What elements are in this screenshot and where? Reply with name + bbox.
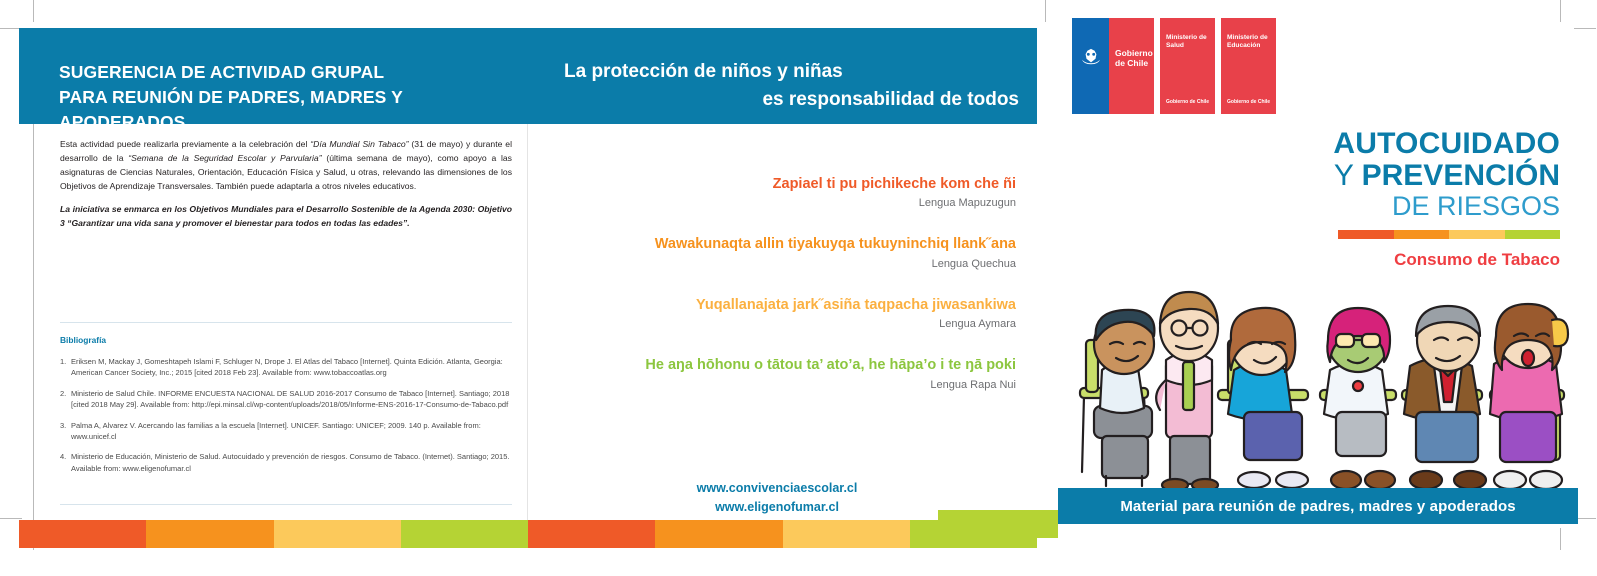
cover-strip-segment xyxy=(1338,230,1394,239)
protection-header-line1: La protección de niños y niñas xyxy=(564,58,1019,86)
chile-coat-of-arms-icon xyxy=(1080,48,1102,66)
illustration-student-1 xyxy=(1080,310,1154,486)
website-url[interactable]: www.convivenciaescolar.cl xyxy=(538,479,1016,498)
bibliography-item: 2.Ministerio de Salud Chile. INFORME ENC… xyxy=(60,388,515,411)
bibliography-item: 4.Ministerio de Educación, Ministerio de… xyxy=(60,451,515,474)
language-entry: He aŋa hōhonu o tātou ta’ ato’a, he hāpa… xyxy=(538,357,1016,390)
activity-emphasis: La iniciativa se enmarca en los Objetivo… xyxy=(60,203,512,231)
bibliography-item-text: Palma A, Alvarez V. Acercando las famili… xyxy=(71,421,481,441)
color-strip-segment xyxy=(146,520,273,548)
bibliography-item-text: Eriksen M, Mackay J, Gomeshtapeh Islami … xyxy=(71,357,503,377)
logo-salud-footer: Gobierno de Chile xyxy=(1166,99,1209,105)
bibliography-item: 3.Palma A, Alvarez V. Acercando las fami… xyxy=(60,420,515,443)
color-strip-segment xyxy=(274,520,401,548)
bottom-color-strip xyxy=(19,520,1037,548)
logo-ministerio-de-educacion: Ministerio de Educación Gobierno de Chil… xyxy=(1221,18,1276,114)
crop-mark-top-left-v xyxy=(33,0,34,22)
protection-header: La protección de niños y niñas es respon… xyxy=(564,58,1019,113)
language-name: Lengua Mapuzugun xyxy=(538,197,1016,209)
logo-ministerio-de-salud: Ministerio de Salud Gobierno de Chile xyxy=(1160,18,1215,114)
cover-title: AUTOCUIDADO Y PREVENCIÓN DE RIESGOS xyxy=(1160,128,1560,221)
language-name: Lengua Aymara xyxy=(538,318,1016,330)
color-strip-segment xyxy=(528,520,655,548)
brochure-page: SUGERENCIA DE ACTIVIDAD GRUPAL PARA REUN… xyxy=(0,0,1597,576)
logo-educacion-footer: Gobierno de Chile xyxy=(1227,99,1270,105)
logo-gobierno-text: Gobierno de Chile xyxy=(1115,48,1153,69)
activity-panel: Esta actividad puede realizarla previame… xyxy=(19,124,527,520)
crop-mark-center-v xyxy=(1045,0,1046,22)
language-phrase: Yuqallanajata jark˝asiña taqpacha jiwasa… xyxy=(538,297,1016,314)
cover-title-y: Y xyxy=(1334,159,1353,192)
activity-header-line1: SUGERENCIA DE ACTIVIDAD GRUPAL xyxy=(59,60,529,85)
illustration-student-4 xyxy=(1402,306,1486,489)
cover-title-prevencion: PREVENCIÓN xyxy=(1362,159,1560,192)
languages-panel: Zapiael ti pu pichikeche kom che ñiLengu… xyxy=(528,124,1037,520)
activity-paragraph: Esta actividad puede realizarla previame… xyxy=(60,138,512,194)
bibliography-item-number: 2. xyxy=(60,388,66,399)
cover-title-line1: AUTOCUIDADO xyxy=(1160,128,1560,160)
left-spread: SUGERENCIA DE ACTIVIDAD GRUPAL PARA REUN… xyxy=(19,28,1037,520)
color-strip-segment xyxy=(783,520,910,548)
green-accent-tab xyxy=(938,510,1058,538)
bibliography-item-number: 3. xyxy=(60,420,66,431)
protection-header-line2: es responsabilidad de todos xyxy=(564,86,1019,114)
illustration-teacher xyxy=(1156,292,1218,490)
bibliography-item-text: Ministerio de Educación, Ministerio de S… xyxy=(71,452,509,472)
biblio-rule-top xyxy=(60,322,512,323)
bibliography-item-number: 1. xyxy=(60,356,66,367)
activity-body: Esta actividad puede realizarla previame… xyxy=(60,138,512,231)
language-entry: Zapiael ti pu pichikeche kom che ñiLengu… xyxy=(538,176,1016,209)
logo-gobierno-de-chile: Gobierno de Chile xyxy=(1072,18,1154,114)
language-name: Lengua Rapa Nui xyxy=(538,379,1016,391)
illustration-student-5 xyxy=(1490,304,1568,489)
illustration-student-2 xyxy=(1218,308,1308,488)
government-logos: Gobierno de Chile Ministerio de Salud Go… xyxy=(1072,18,1276,114)
cover-title-line2: Y PREVENCIÓN xyxy=(1160,160,1560,192)
color-strip-segment xyxy=(19,520,146,548)
language-phrase: Zapiael ti pu pichikeche kom che ñi xyxy=(538,176,1016,193)
header-band: SUGERENCIA DE ACTIVIDAD GRUPAL PARA REUN… xyxy=(19,28,1037,124)
bibliography-list: 1.Eriksen M, Mackay J, Gomeshtapeh Islam… xyxy=(60,356,515,483)
cover-footer: Material para reunión de padres, madres … xyxy=(1058,488,1578,524)
illustration-student-3 xyxy=(1320,308,1396,489)
color-strip-segment xyxy=(655,520,782,548)
biblio-rule-bottom xyxy=(60,504,512,505)
language-phrase: Wawakunaqta allin tiyakuyqa tukuyninchiq… xyxy=(538,236,1016,253)
cover-strip-segment xyxy=(1505,230,1561,239)
cover-title-line3: DE RIESGOS xyxy=(1160,192,1560,222)
language-entry: Yuqallanajata jark˝asiña taqpacha jiwasa… xyxy=(538,297,1016,330)
cover-color-strip xyxy=(1338,230,1560,239)
language-list: Zapiael ti pu pichikeche kom che ñiLengu… xyxy=(538,176,1016,418)
classroom-illustration xyxy=(1058,240,1578,490)
language-name: Lengua Quechua xyxy=(538,258,1016,270)
bibliography-item-text: Ministerio de Salud Chile. INFORME ENCUE… xyxy=(71,389,509,409)
cover-strip-segment xyxy=(1449,230,1505,239)
cover-strip-segment xyxy=(1394,230,1450,239)
bibliography-item-number: 4. xyxy=(60,451,66,462)
cover-panel: Gobierno de Chile Ministerio de Salud Go… xyxy=(1058,18,1578,538)
language-entry: Wawakunaqta allin tiyakuyqa tukuyninchiq… xyxy=(538,236,1016,269)
bibliography-title: Bibliografía xyxy=(60,335,106,345)
language-phrase: He aŋa hōhonu o tātou ta’ ato’a, he hāpa… xyxy=(538,357,1016,374)
color-strip-segment xyxy=(401,520,528,548)
bibliography-item: 1.Eriksen M, Mackay J, Gomeshtapeh Islam… xyxy=(60,356,515,379)
